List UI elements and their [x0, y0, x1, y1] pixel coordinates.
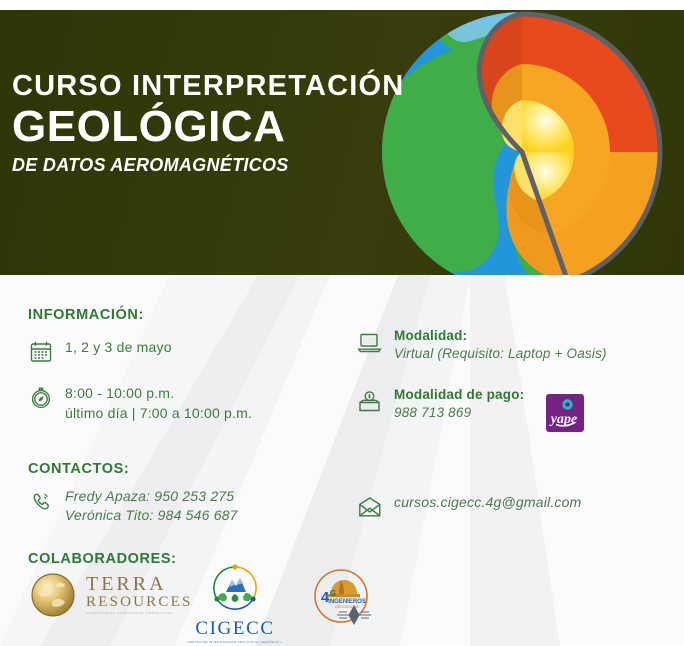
terra-title-line-2: RESOURCES	[86, 595, 193, 610]
collaborator-logos: TERRA RESOURCES GEOPHYSICAL GEOLOGICAL C…	[0, 560, 684, 646]
terra-resources-logo: TERRA RESOURCES GEOPHYSICAL GEOLOGICAL C…	[28, 570, 193, 620]
laptop-icon	[355, 328, 385, 358]
poster-title-group: CURSO INTERPRETACIÓN GEOLÓGICA DE DATOS …	[12, 72, 404, 174]
contacts-text-group: Fredy Apaza: 950 253 275 Verónica Tito: …	[65, 487, 238, 525]
informacion-heading: INFORMACIÓN:	[28, 307, 144, 323]
hero-band: CURSO INTERPRETACIÓN GEOLÓGICA DE DATOS …	[0, 10, 684, 275]
terra-tagline: GEOPHYSICAL GEOLOGICAL CONSULTING	[86, 612, 193, 615]
cigecc-logo: CIGECC CENTRO DE INVESTIGACIÓN GEOLÓGICA…	[185, 562, 285, 646]
modality-row: Modalidad: Virtual (Requisito: Laptop + …	[355, 328, 607, 363]
hard-hat-circle-icon: 4 G INGENIEROS GEOCIENCIAS	[303, 568, 395, 630]
email-row: cursos.cigecc.4g@gmail.com	[355, 493, 581, 523]
email-text-group: cursos.cigecc.4g@gmail.com	[394, 493, 581, 512]
compass-icon	[26, 383, 56, 413]
info-date-row: 1, 2 y 3 de mayo	[26, 337, 172, 367]
modality-label: Modalidad:	[394, 328, 607, 345]
email-value: cursos.cigecc.4g@gmail.com	[394, 493, 581, 512]
contactos-heading: CONTACTOS:	[28, 461, 129, 477]
title-line-1: CURSO INTERPRETACIÓN	[12, 72, 404, 101]
earth-cutaway-illustration	[372, 10, 672, 275]
yape-wordmark: yape	[549, 412, 577, 427]
terra-wordmark: TERRA RESOURCES GEOPHYSICAL GEOLOGICAL C…	[86, 574, 193, 615]
cigecc-tagline: CENTRO DE INVESTIGACIÓN GEOLÓGICA, GEOFÍ…	[185, 640, 285, 646]
payment-row: Modalidad de pago: 988 713 869	[355, 387, 524, 422]
phone-ringing-icon	[26, 487, 56, 517]
envelope-icon	[355, 493, 385, 523]
mountain-leaves-circle-icon	[185, 562, 285, 614]
yape-mark: yape	[546, 394, 584, 432]
yape-logo: yape	[546, 394, 584, 432]
terra-title-line-1: TERRA	[86, 574, 193, 594]
info-time-line-1: 8:00 - 10:00 p.m.	[65, 383, 252, 403]
title-line-3: DE DATOS AEROMAGNÉTICOS	[12, 156, 404, 174]
payment-text-group: Modalidad de pago: 988 713 869	[394, 387, 524, 422]
contact-line-2: Verónica Tito: 984 546 687	[65, 506, 238, 525]
calendar-icon	[26, 337, 56, 367]
svg-text:G: G	[330, 589, 336, 598]
gold-globe-icon	[28, 570, 78, 620]
info-time-row: 8:00 - 10:00 p.m. último día | 7:00 a 10…	[26, 383, 252, 424]
payment-label: Modalidad de pago:	[394, 387, 524, 404]
modality-value: Virtual (Requisito: Laptop + Oasis)	[394, 345, 607, 363]
payment-value: 988 713 869	[394, 404, 524, 422]
cigecc-title: CIGECC	[185, 619, 285, 638]
info-time-text-group: 8:00 - 10:00 p.m. último día | 7:00 a 10…	[65, 383, 252, 424]
title-line-2: GEOLÓGICA	[12, 105, 404, 150]
ingenieros-4g-logo: 4 G INGENIEROS GEOCIENCIAS	[303, 568, 395, 635]
info-date-text: 1, 2 y 3 de mayo	[65, 337, 172, 357]
info-date-text-group: 1, 2 y 3 de mayo	[65, 337, 172, 357]
info-time-line-2: último día | 7:00 a 10:00 p.m.	[65, 403, 252, 423]
poster-canvas: CURSO INTERPRETACIÓN GEOLÓGICA DE DATOS …	[0, 0, 684, 646]
contacts-row: Fredy Apaza: 950 253 275 Verónica Tito: …	[26, 487, 238, 525]
cash-box-icon	[355, 387, 385, 417]
modality-text-group: Modalidad: Virtual (Requisito: Laptop + …	[394, 328, 607, 363]
contact-line-1: Fredy Apaza: 950 253 275	[65, 487, 238, 506]
